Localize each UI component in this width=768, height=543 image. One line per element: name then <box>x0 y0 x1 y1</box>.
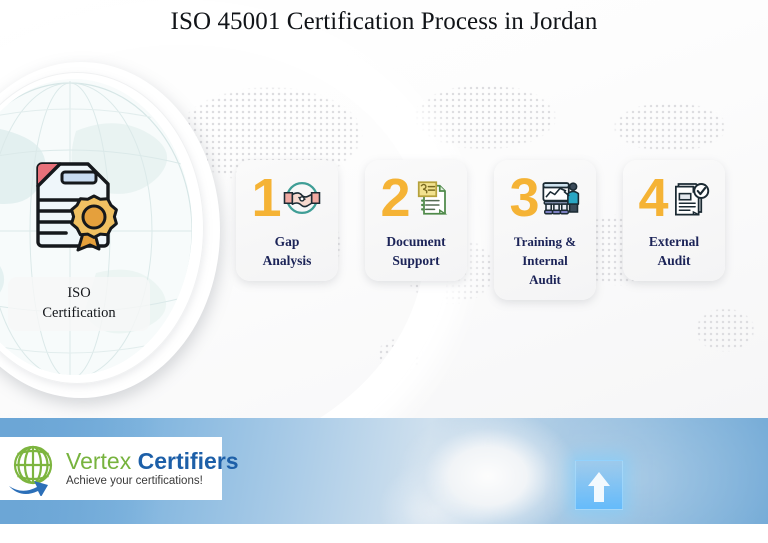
step-label-1-line2: Analysis <box>241 251 333 270</box>
logo-name: Vertex Certifiers <box>66 448 239 474</box>
badge-label-line2: Certification <box>12 303 146 323</box>
step-card-1-top: 1 <box>241 170 333 226</box>
step-card-4[interactable]: 4 External Aud <box>623 160 725 281</box>
step-label-4-line1: External <box>628 232 720 251</box>
step-number-4: 4 <box>638 172 666 224</box>
step-label-2-line1: Document <box>370 232 462 251</box>
step-label-3-line1: Training & <box>499 232 591 251</box>
step-number-1: 1 <box>251 172 279 224</box>
step-label-4-line2: Audit <box>628 251 720 270</box>
step-label-4: External Audit <box>628 232 720 270</box>
step-label-1-line1: Gap <box>241 232 333 251</box>
step-card-3-top: 3 <box>499 170 591 226</box>
badge-content: ISO Certification <box>0 62 224 402</box>
certificate-icon <box>22 150 126 256</box>
logo-text: Vertex Certifiers Achieve your certifica… <box>66 448 239 489</box>
logo-name-part2: Certifiers <box>138 448 239 474</box>
step-label-3-line3: Audit <box>499 270 591 289</box>
step-card-2-top: 2 <box>370 170 462 226</box>
step-card-4-top: 4 <box>628 170 720 226</box>
document-check-icon <box>668 177 710 219</box>
iso-certification-badge: ISO Certification <box>0 62 224 402</box>
step-number-2: 2 <box>380 172 408 224</box>
documents-icon <box>410 177 452 219</box>
handshake-puzzle-icon <box>281 177 323 219</box>
iso-certification-process-poster: ISO 45001 Certification Process in Jorda… <box>0 0 768 543</box>
step-card-2[interactable]: 2 <box>365 160 467 281</box>
bottom-white-strip <box>0 524 768 543</box>
step-card-3[interactable]: 3 <box>494 160 596 300</box>
step-card-1[interactable]: 1 Gap Analysis <box>236 160 338 281</box>
globe-arrow-logo-icon <box>6 442 64 496</box>
badge-label-line1: ISO <box>12 283 146 303</box>
step-label-2: Document Support <box>370 232 462 270</box>
logo-tagline: Achieve your certifications! <box>66 474 239 489</box>
training-presentation-icon <box>539 177 581 219</box>
process-steps-row: 1 Gap Analysis 2 <box>236 160 756 310</box>
step-label-3-line2: Internal <box>499 251 591 270</box>
step-number-3: 3 <box>509 172 537 224</box>
badge-label: ISO Certification <box>8 277 150 331</box>
logo-name-part1: Vertex <box>66 448 131 474</box>
page-title: ISO 45001 Certification Process in Jorda… <box>0 8 768 36</box>
step-label-3: Training & Internal Audit <box>499 232 591 289</box>
upward-arrow-icon <box>586 470 612 504</box>
company-logo[interactable]: Vertex Certifiers Achieve your certifica… <box>0 437 222 500</box>
hand-touching-glowing-arrow-photo <box>378 418 608 524</box>
step-label-1: Gap Analysis <box>241 232 333 270</box>
step-label-2-line2: Support <box>370 251 462 270</box>
